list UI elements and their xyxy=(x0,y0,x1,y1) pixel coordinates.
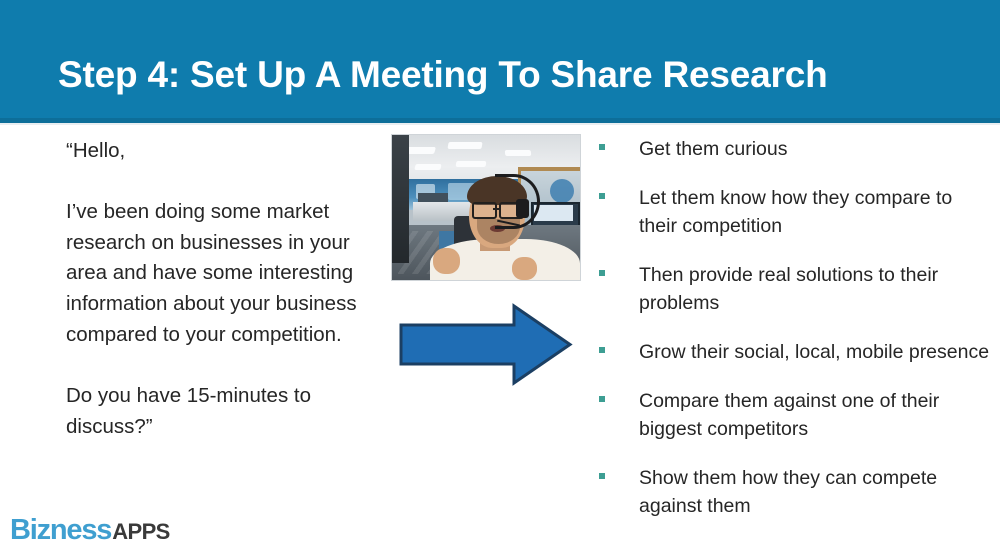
ceiling-light xyxy=(404,147,436,154)
brand-logo: Bizness APPS xyxy=(10,514,170,547)
script-paragraph-2: I’ve been doing some market research on … xyxy=(66,197,376,351)
list-item-label: Compare them against one of their bigges… xyxy=(639,387,990,443)
list-item: Then provide real solutions to their pro… xyxy=(598,261,990,317)
ceiling-light xyxy=(455,161,486,167)
ceiling-light xyxy=(504,150,531,156)
right-arrow-graphic xyxy=(398,303,573,386)
bullet-marker-icon xyxy=(598,387,639,402)
list-item-label: Show them how they can compete against t… xyxy=(639,464,990,520)
list-item-label: Let them know how they compare to their … xyxy=(639,184,990,240)
bullet-marker-icon xyxy=(598,184,639,199)
script-spacer-2 xyxy=(66,351,376,381)
list-item: Grow their social, local, mobile presenc… xyxy=(598,338,990,366)
ceiling-light xyxy=(414,164,442,170)
brand-logo-primary: Bizness xyxy=(10,514,111,547)
bullet-marker-icon xyxy=(598,338,639,353)
dark-wall-column xyxy=(392,135,409,263)
list-item-label: Then provide real solutions to their pro… xyxy=(639,261,990,317)
sales-script-block: “Hello, I’ve been doing some market rese… xyxy=(66,136,376,442)
page-title: Step 4: Set Up A Meeting To Share Resear… xyxy=(58,52,958,98)
script-spacer-1 xyxy=(66,167,376,197)
bullet-marker-icon xyxy=(598,135,639,150)
list-item: Compare them against one of their bigges… xyxy=(598,387,990,443)
bullet-marker-icon xyxy=(598,261,639,276)
talking-points-list: Get them curious Let them know how they … xyxy=(598,135,990,541)
list-item: Let them know how they compare to their … xyxy=(598,184,990,240)
list-item-label: Grow their social, local, mobile presenc… xyxy=(639,338,990,366)
title-banner-hairline xyxy=(0,123,1000,125)
list-item: Show them how they can compete against t… xyxy=(598,464,990,520)
video-still-scene xyxy=(392,135,580,280)
list-item-label: Get them curious xyxy=(639,135,990,163)
brand-logo-secondary: APPS xyxy=(112,519,170,545)
script-paragraph-3: Do you have 15-minutes to discuss?” xyxy=(66,381,376,443)
headset-earcup xyxy=(516,199,529,218)
person-right-hand xyxy=(512,257,536,280)
list-item: Get them curious xyxy=(598,135,990,163)
eyeglasses-left-lens xyxy=(472,202,497,219)
slide: Step 4: Set Up A Meeting To Share Resear… xyxy=(0,0,1000,555)
script-paragraph-1: “Hello, xyxy=(66,136,376,167)
arrow-right-icon xyxy=(398,303,573,386)
office-monitor-screen xyxy=(534,205,573,221)
video-call-screenshot xyxy=(391,134,581,281)
ceiling-light xyxy=(448,142,483,149)
person-left-hand xyxy=(433,248,459,274)
bullet-marker-icon xyxy=(598,464,639,479)
